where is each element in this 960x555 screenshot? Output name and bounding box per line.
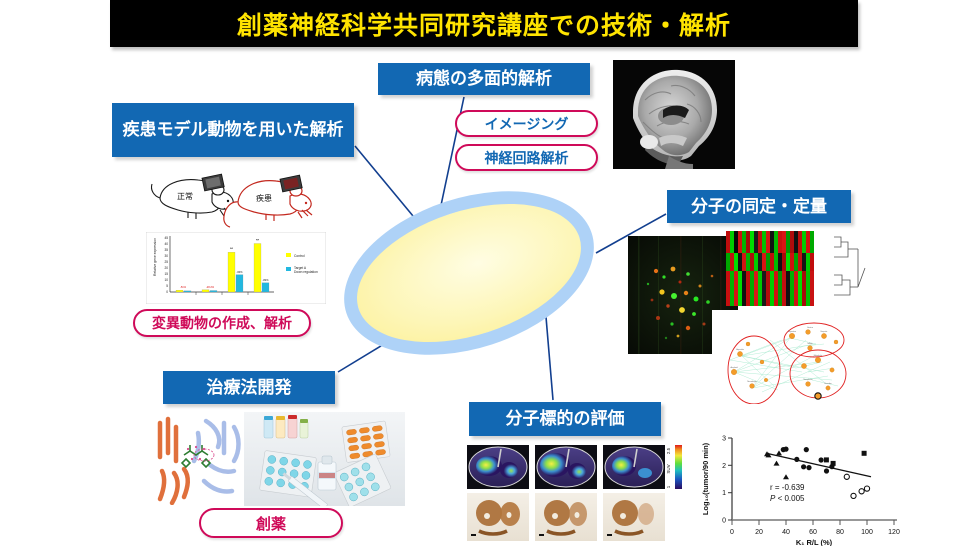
svg-text:-82%: -82% (262, 278, 269, 282)
mouse-model-illustration: 正常 疾患 (148, 168, 318, 230)
box-target-eval-label: 分子標的の評価 (506, 408, 625, 429)
protein-structure-figure (156, 413, 244, 505)
box-therapy-label: 治療法開発 (207, 377, 292, 398)
scatter-xlabel: K₁ R/L (%) (796, 538, 833, 546)
scatter-xtick-40: 40 (782, 529, 790, 536)
pill-drug-discovery[interactable]: 創薬 (199, 508, 343, 538)
brain-mri-figure (613, 60, 735, 169)
box-target-evaluation[interactable]: 分子標的の評価 (469, 402, 661, 436)
gene-expression-bar-chart: 0 5 10 15 20 25 30 35 40 45 Relative gen… (146, 232, 326, 304)
svg-text:45: 45 (164, 236, 168, 240)
expression-heatmap-figure (726, 231, 834, 306)
svg-text:Digestive: Digestive (788, 330, 797, 333)
scatter-xtick-20: 20 (755, 529, 763, 536)
svg-text:5: 5 (166, 284, 168, 288)
svg-text:25: 25 (164, 260, 168, 264)
connector-animal-model (355, 146, 418, 222)
scatter-xtick-120: 120 (888, 529, 900, 536)
svg-text:30: 30 (164, 254, 168, 258)
pill-drugdisc-label: 創薬 (256, 513, 286, 534)
svg-text:Down regulation: Down regulation (294, 270, 318, 274)
svg-text:Neurologic: Neurologic (747, 381, 757, 383)
connector-target-eval (545, 305, 553, 400)
dendrogram-figure (834, 231, 868, 306)
box-animal-model[interactable]: 疾患モデル動物を用いた解析 (112, 103, 354, 157)
svg-text:Gastro: Gastro (807, 326, 814, 329)
svg-text:35: 35 (164, 248, 168, 252)
svg-text:10: 10 (164, 278, 168, 282)
svg-text:Neoplasia: Neoplasia (804, 379, 814, 381)
suv-max-label: 2.5 (666, 447, 671, 454)
pill-mutant-label: 変異動物の作成、解析 (152, 313, 292, 333)
svg-text:0: 0 (166, 290, 168, 294)
box-molecule-identification[interactable]: 分子の同定・定量 (667, 190, 851, 223)
pill-circuit-label: 神経回路解析 (485, 148, 569, 168)
pathway-network-figure: HepatitisAmyloid NeurologicDigestive Gas… (712, 310, 860, 404)
scatter-ytick-0: 0 (722, 518, 726, 525)
legend-control: Control (294, 254, 305, 258)
box-molecule-id-label: 分子の同定・定量 (691, 196, 827, 217)
medicines-photo (244, 412, 405, 506)
svg-text:40: 40 (164, 242, 168, 246)
svg-text:Metabolic: Metabolic (814, 354, 823, 357)
box-pathology[interactable]: 病態の多面的解析 (378, 63, 590, 95)
scatter-ytick-2: 2 (722, 463, 726, 470)
pill-neural-circuit-analysis[interactable]: 神経回路解析 (455, 144, 598, 171)
svg-text:20: 20 (164, 266, 168, 270)
scatter-xtick-60: 60 (809, 529, 817, 536)
svg-text:Inflam: Inflam (807, 343, 813, 345)
scatter-xtick-0: 0 (730, 529, 734, 536)
bar-chart-ylabel: Relative gene expression (153, 238, 157, 276)
svg-text:-28.2%: -28.2% (206, 285, 215, 289)
svg-text:Amyloid: Amyloid (730, 366, 737, 369)
pill-imaging[interactable]: イメージング (455, 110, 598, 137)
svg-text:Hepatic: Hepatic (821, 330, 828, 333)
box-animal-model-label: 疾患モデル動物を用いた解析 (123, 119, 344, 140)
scatter-xtick-80: 80 (836, 529, 844, 536)
box-pathology-label: 病態の多面的解析 (416, 68, 552, 89)
mouse-disease-label: 疾患 (256, 193, 272, 203)
correlation-scatter-chart: 0 1 2 3 0 20 40 60 80 100 (692, 424, 920, 546)
scatter-ylabel: Log₁₀(tumor/90 min) (701, 442, 710, 515)
pet-histology-figure: 2.5 SUV 1 (465, 443, 685, 543)
slide-canvas: 創薬神経科学共同研究講座での技術・解析 (0, 0, 960, 555)
scatter-xtick-100: 100 (861, 529, 873, 536)
svg-text:Disorder: Disorder (824, 383, 832, 385)
svg-text:15: 15 (164, 272, 168, 276)
pill-imaging-label: イメージング (485, 114, 569, 134)
scatter-annotation-r: r = -0.639 (770, 483, 805, 492)
scatter-annotation-p: P < 0.005 (770, 494, 805, 503)
svg-text:Hepatitis: Hepatitis (736, 348, 744, 351)
scatter-ytick-3: 3 (722, 436, 726, 443)
box-therapy-development[interactable]: 治療法開発 (163, 371, 335, 404)
pill-mutant-animal-generation[interactable]: 変異動物の作成、解析 (133, 309, 311, 337)
mouse-normal-label: 正常 (177, 192, 193, 201)
svg-text:-51%: -51% (180, 285, 187, 289)
suv-axis-label: SUV (666, 464, 671, 473)
svg-text:-60%: -60% (236, 270, 243, 274)
scatter-ytick-1: 1 (722, 490, 726, 497)
